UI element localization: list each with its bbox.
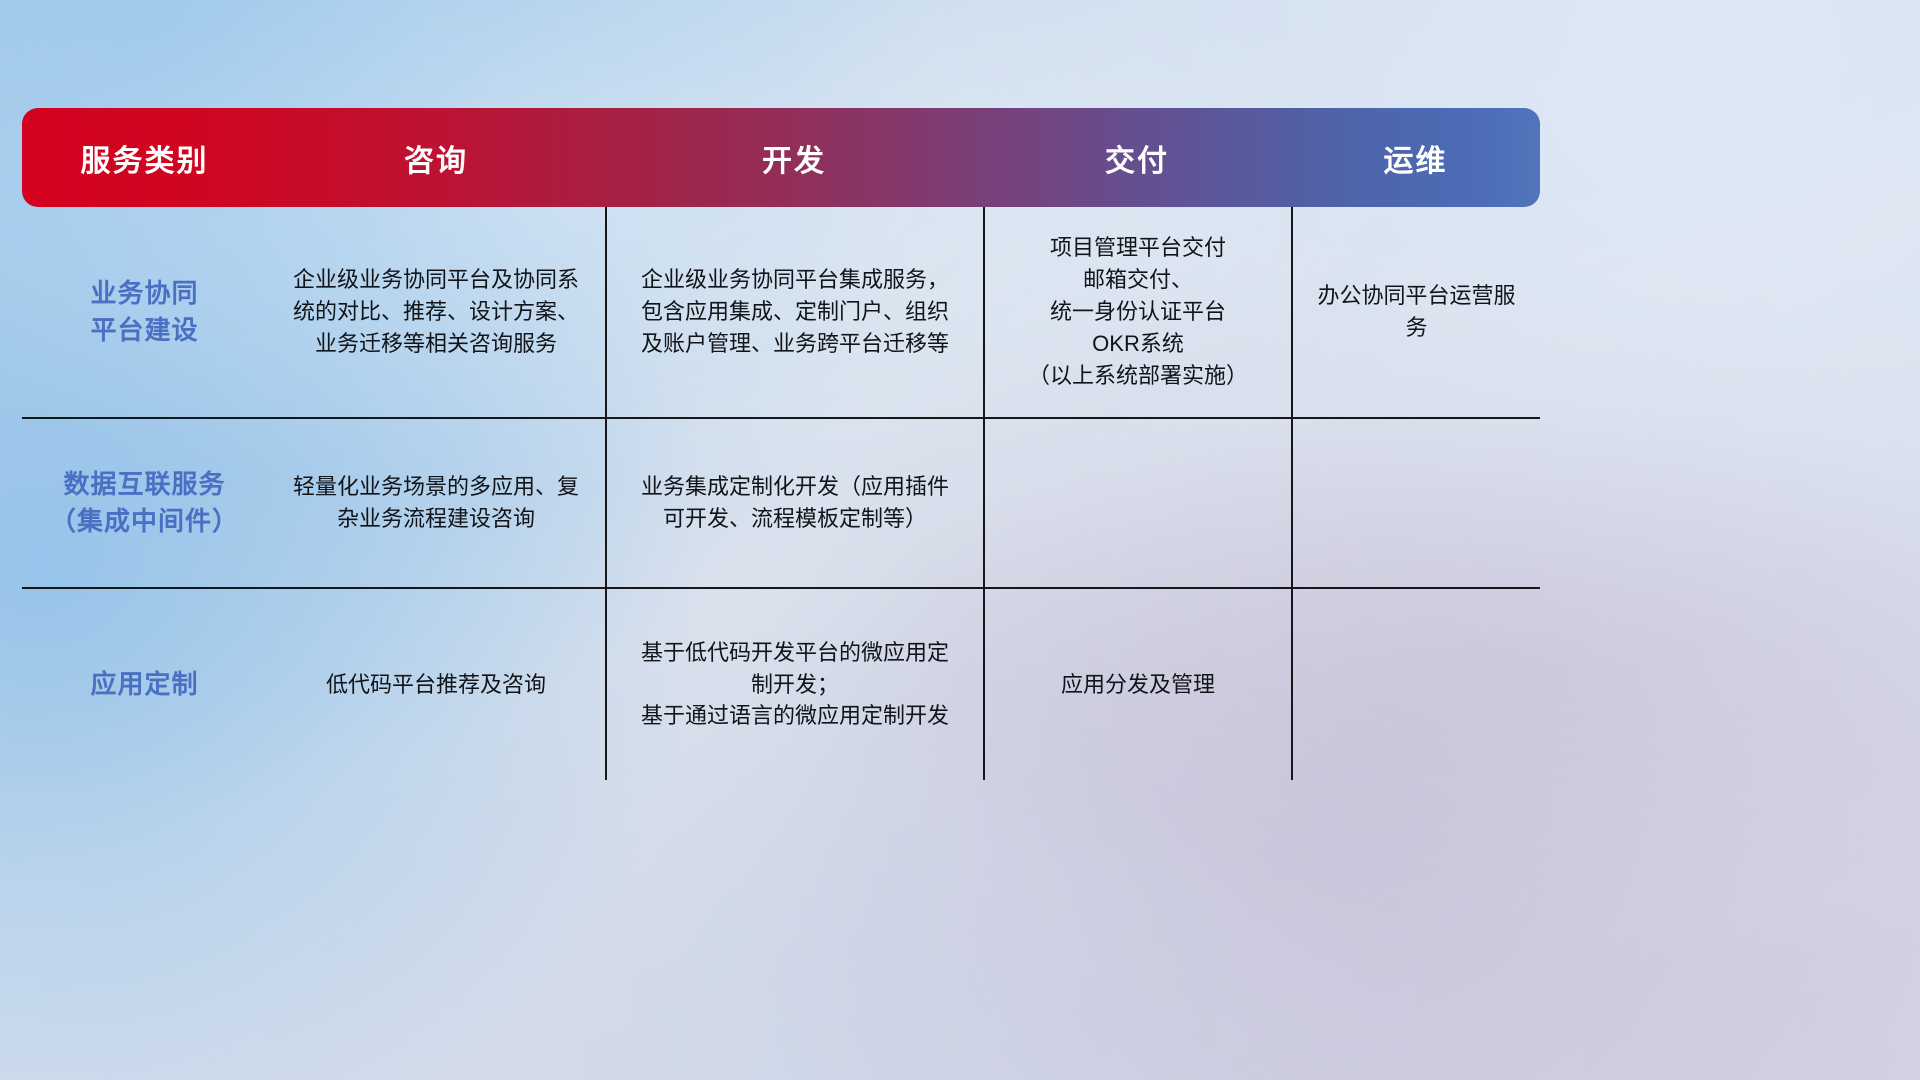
row-category-label: 应用定制 xyxy=(22,587,267,780)
header-label-development: 开发 xyxy=(605,136,983,180)
cell-consulting: 轻量化业务场景的多应用、复杂业务流程建设咨询 xyxy=(267,417,605,587)
cell-delivery: 应用分发及管理 xyxy=(983,587,1291,780)
cell-text-line: 项目管理平台交付 xyxy=(999,232,1277,264)
header-label-operations: 运维 xyxy=(1291,136,1540,180)
cell-text-line: OKR系统 xyxy=(999,328,1277,360)
cell-text-line: 基于通过语言的微应用定制开发 xyxy=(621,700,969,732)
header-cell-operations: 运维 xyxy=(1291,108,1540,207)
cell-text-line: 包含应用集成、定制门户、组织 xyxy=(621,296,969,328)
service-matrix-container: 服务类别 咨询 开发 交付 运维 业务协同平台建设 企业级业务协同平台及协同 xyxy=(22,108,1540,780)
cell-text-line: 基于低代码开发平台的微应用定 xyxy=(621,637,969,669)
cell-consulting: 低代码平台推荐及咨询 xyxy=(267,587,605,780)
cell-text-line: 统一身份认证平台 xyxy=(999,296,1277,328)
cell-text-line: （集成中间件） xyxy=(30,503,259,540)
cell-text-line: 业务协同 xyxy=(30,275,259,312)
header-cell-service-category: 服务类别 xyxy=(22,108,267,207)
header-cell-development: 开发 xyxy=(605,108,983,207)
cell-text-line: 业务迁移等相关咨询服务 xyxy=(281,328,591,360)
cell-text-line: 制开发； xyxy=(621,669,969,701)
cell-text-line: 应用定制 xyxy=(30,666,259,703)
table-row: 数据互联服务（集成中间件） 轻量化业务场景的多应用、复杂业务流程建设咨询 业务集… xyxy=(22,417,1540,587)
cell-text-line: 及账户管理、业务跨平台迁移等 xyxy=(621,328,969,360)
cell-delivery xyxy=(983,417,1291,587)
cell-development: 业务集成定制化开发（应用插件可开发、流程模板定制等） xyxy=(605,417,983,587)
table-header: 服务类别 咨询 开发 交付 运维 xyxy=(22,108,1540,207)
header-label-delivery: 交付 xyxy=(983,136,1291,180)
table-row: 应用定制 低代码平台推荐及咨询 基于低代码开发平台的微应用定制开发；基于通过语言… xyxy=(22,587,1540,780)
table-body: 业务协同平台建设 企业级业务协同平台及协同系统的对比、推荐、设计方案、业务迁移等… xyxy=(22,207,1540,780)
cell-text-line: （以上系统部署实施） xyxy=(999,360,1277,392)
service-matrix-table: 服务类别 咨询 开发 交付 运维 业务协同平台建设 企业级业务协同平台及协同 xyxy=(22,108,1540,780)
header-label-service-category: 服务类别 xyxy=(22,136,267,180)
cell-operations xyxy=(1291,417,1540,587)
cell-operations: 办公协同平台运营服务 xyxy=(1291,207,1540,417)
header-cell-consulting: 咨询 xyxy=(267,108,605,207)
cell-text-line: 办公协同平台运营服务 xyxy=(1307,280,1526,344)
cell-text-line: 轻量化业务场景的多应用、复 xyxy=(281,471,591,503)
cell-text-line: 低代码平台推荐及咨询 xyxy=(281,669,591,701)
cell-operations xyxy=(1291,587,1540,780)
cell-text-line: 平台建设 xyxy=(30,312,259,349)
cell-delivery: 项目管理平台交付邮箱交付、统一身份认证平台OKR系统（以上系统部署实施） xyxy=(983,207,1291,417)
row-category-label: 业务协同平台建设 xyxy=(22,207,267,417)
cell-development: 基于低代码开发平台的微应用定制开发；基于通过语言的微应用定制开发 xyxy=(605,587,983,780)
cell-text-line: 邮箱交付、 xyxy=(999,264,1277,296)
cell-text-line: 可开发、流程模板定制等） xyxy=(621,503,969,535)
header-label-consulting: 咨询 xyxy=(267,136,605,180)
cell-text-line: 业务集成定制化开发（应用插件 xyxy=(621,471,969,503)
cell-text-line: 杂业务流程建设咨询 xyxy=(281,503,591,535)
cell-text-line: 统的对比、推荐、设计方案、 xyxy=(281,296,591,328)
row-category-label: 数据互联服务（集成中间件） xyxy=(22,417,267,587)
cell-text-line: 应用分发及管理 xyxy=(999,669,1277,701)
cell-consulting: 企业级业务协同平台及协同系统的对比、推荐、设计方案、业务迁移等相关咨询服务 xyxy=(267,207,605,417)
header-row: 服务类别 咨询 开发 交付 运维 xyxy=(22,108,1540,207)
cell-text-line: 企业级业务协同平台集成服务， xyxy=(621,264,969,296)
cell-text-line: 数据互联服务 xyxy=(30,466,259,503)
cell-development: 企业级业务协同平台集成服务，包含应用集成、定制门户、组织及账户管理、业务跨平台迁… xyxy=(605,207,983,417)
header-cell-delivery: 交付 xyxy=(983,108,1291,207)
table-row: 业务协同平台建设 企业级业务协同平台及协同系统的对比、推荐、设计方案、业务迁移等… xyxy=(22,207,1540,417)
cell-text-line: 企业级业务协同平台及协同系 xyxy=(281,264,591,296)
